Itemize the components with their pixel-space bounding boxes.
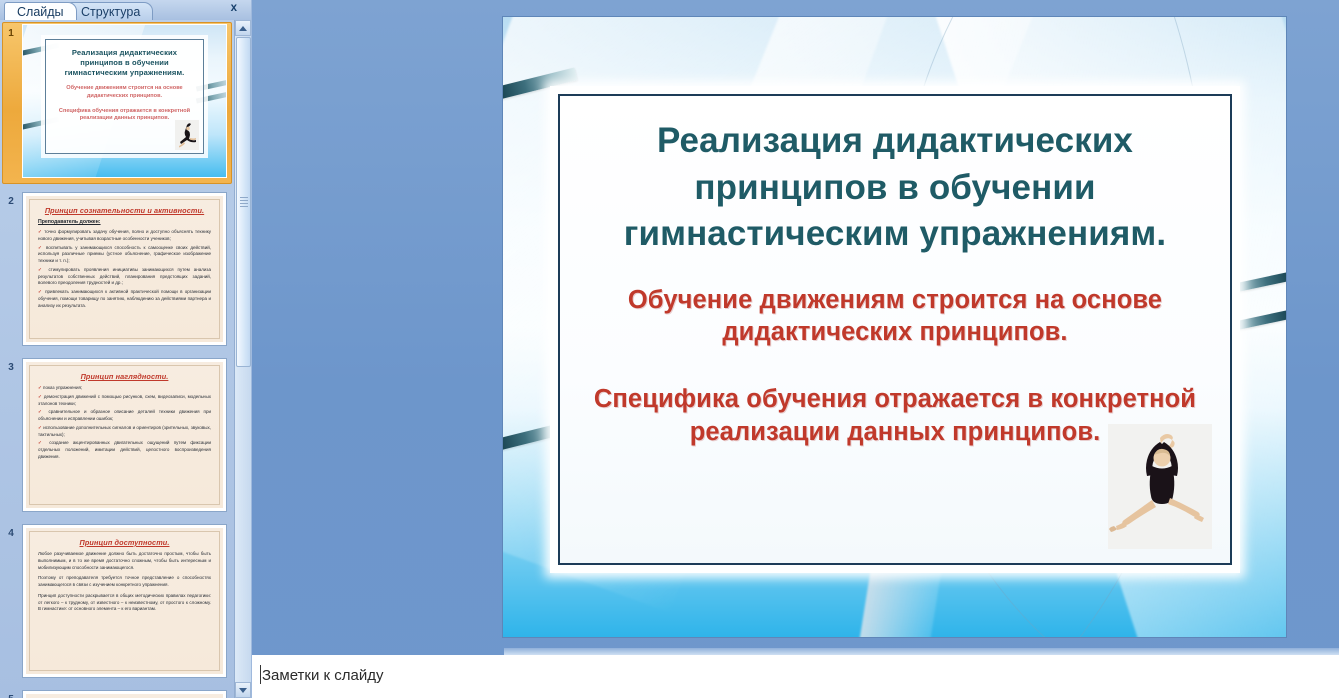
mini-slide-2-heading: Принцип сознательности и активности.: [38, 206, 211, 215]
close-panel-button[interactable]: x: [231, 2, 237, 14]
list-item-text: воспитывать у занимающихся способность к…: [38, 245, 211, 264]
check-icon: ✓: [38, 229, 42, 234]
mini-slide-4-para2: Поэтому от преподавателя требуется точно…: [38, 575, 211, 589]
notes-splitter[interactable]: [504, 648, 1339, 655]
list-item: ✓ демонстрация движений с помощью рисунк…: [38, 394, 211, 408]
mini-slide-4-para3: Принцип доступности раскрывается в общих…: [38, 593, 211, 613]
slide-thumbnail-3-canvas: Принцип наглядности. ✓ показ упражнения;…: [22, 358, 227, 512]
current-slide[interactable]: Реализация дидактических принципов в обу…: [503, 17, 1286, 637]
notes-placeholder[interactable]: Заметки к слайду: [262, 667, 384, 684]
slide-thumbnail-5[interactable]: 5: [0, 690, 234, 698]
check-icon: ✓: [38, 289, 43, 294]
check-icon: ✓: [38, 440, 45, 445]
list-item: ✓ показ упражнения;: [38, 385, 211, 392]
tab-slides-label: Слайды: [17, 5, 64, 19]
mini-slide-2-frame: Принцип сознательности и активности. Пре…: [29, 199, 220, 339]
list-item: ✓ привлекать занимающихся к активной пра…: [38, 289, 211, 309]
mini-slide-3-background: Принцип наглядности. ✓ показ упражнения;…: [23, 359, 226, 511]
list-item-text: точно формулировать задачу обучения, пол…: [38, 229, 211, 241]
slide-thumbnail-5-canvas: [22, 690, 227, 698]
slide-title[interactable]: Реализация дидактических принципов в обу…: [586, 118, 1204, 258]
check-icon: ✓: [38, 385, 42, 390]
list-item: ✓ сравнительное и образное описание дета…: [38, 409, 211, 423]
powerpoint-window: Слайды Структура x 1 Ре: [0, 0, 1339, 698]
mini-slide-4-frame: Принцип доступности. Любое разучиваемое …: [29, 531, 220, 671]
mini-slide-3-frame: Принцип наглядности. ✓ показ упражнения;…: [29, 365, 220, 505]
slides-panel: Слайды Структура x 1 Ре: [0, 0, 251, 698]
list-item: ✓ стимулировать проявления инициативы за…: [38, 267, 211, 287]
mini-slide-para1: Обучение движениям строится на основе ди…: [51, 85, 197, 100]
mini-slide-4-heading: Принцип доступности.: [38, 538, 211, 547]
slide-thumbnail-4-canvas: Принцип доступности. Любое разучиваемое …: [22, 524, 227, 678]
mini-gymnast-photo: [175, 120, 199, 150]
list-item: ✓ воспитывать у занимающихся способность…: [38, 245, 211, 265]
editing-workspace: Реализация дидактических принципов в обу…: [252, 0, 1339, 698]
mini-slide-3-heading: Принцип наглядности.: [38, 372, 211, 381]
mini-slide-4-background: Принцип доступности. Любое разучиваемое …: [23, 525, 226, 677]
slide-content-frame[interactable]: Реализация дидактических принципов в обу…: [550, 86, 1240, 573]
list-item-text: демонстрация движений с помощью рисунков…: [38, 394, 211, 406]
mini-slide-5-background: [23, 691, 226, 698]
check-icon: ✓: [38, 267, 45, 272]
list-item: ✓ точно формулировать задачу обучения, п…: [38, 229, 211, 243]
list-item-text: использование дополнительных сигналов и …: [38, 425, 211, 437]
panel-tab-strip: Слайды Структура x: [0, 0, 251, 20]
check-icon: ✓: [38, 245, 43, 250]
gymnast-photo[interactable]: [1108, 424, 1212, 549]
slide-paragraph-1[interactable]: Обучение движениям строится на основе ди…: [586, 284, 1204, 349]
text-caret: [260, 665, 261, 684]
chevron-down-icon: [239, 688, 247, 693]
slide-number-4: 4: [0, 524, 22, 539]
slide-number-2: 2: [0, 192, 22, 207]
scroll-up-button[interactable]: [235, 20, 251, 36]
list-item-text: стимулировать проявления инициативы зани…: [38, 267, 211, 286]
tab-outline-label: Структура: [81, 5, 140, 19]
check-icon: ✓: [38, 425, 42, 430]
slide-number-3: 3: [0, 358, 22, 373]
list-item: ✓ создание акцентированных двигательных …: [38, 440, 211, 460]
mini-slide-2-subheading: Преподаватель должен:: [38, 219, 211, 225]
slide-thumbnail-1-canvas: Реализация дидактических принципов в обу…: [22, 24, 227, 178]
slide-number-5: 5: [0, 690, 22, 698]
slide-thumbnail-2[interactable]: 2 Принцип сознательности и активности. П…: [0, 192, 234, 346]
mini-slide-3-list: ✓ показ упражнения; ✓ демонстрация движе…: [38, 385, 211, 461]
mini-slide-background: Реализация дидактических принципов в обу…: [23, 25, 226, 177]
slide-thumbnail-2-canvas: Принцип сознательности и активности. Пре…: [22, 192, 227, 346]
mini-slide-title: Реализация дидактических принципов в обу…: [51, 48, 197, 79]
list-item-text: показ упражнения;: [43, 385, 82, 390]
list-item-text: создание акцентированных двигательных ощ…: [38, 440, 211, 459]
slide-thumbnail-list[interactable]: 1 Реализация дидактических принципов в о…: [0, 20, 234, 698]
slide-thumbnail-1[interactable]: 1 Реализация дидактических принципов в о…: [0, 24, 234, 178]
scrollbar-thumb[interactable]: [236, 37, 251, 367]
list-item-text: привлекать занимающихся к активной практ…: [38, 289, 211, 308]
scroll-down-button[interactable]: [235, 682, 251, 698]
list-item-text: сравнительное и образное описание детале…: [38, 409, 211, 421]
scrollbar-grip-icon: [240, 197, 248, 207]
slide-number-1: 1: [0, 24, 22, 39]
slide-thumbnail-4[interactable]: 4 Принцип доступности. Любое разучиваемо…: [0, 524, 234, 678]
mini-slide-2-list: ✓ точно формулировать задачу обучения, п…: [38, 229, 211, 309]
notes-pane[interactable]: Заметки к слайду: [252, 655, 1339, 698]
chevron-up-icon: [239, 26, 247, 31]
gymnast-image: [1108, 424, 1212, 549]
list-item: ✓ использование дополнительных сигналов …: [38, 425, 211, 439]
slide-thumbnail-3[interactable]: 3 Принцип наглядности. ✓ показ упражнени…: [0, 358, 234, 512]
tab-outline[interactable]: Структура: [68, 2, 153, 20]
slide-content-box[interactable]: Реализация дидактических принципов в обу…: [558, 94, 1232, 565]
tab-slides[interactable]: Слайды: [4, 2, 77, 20]
mini-content-box: Реализация дидактических принципов в обу…: [45, 39, 203, 155]
check-icon: ✓: [38, 409, 45, 414]
mini-slide-2-background: Принцип сознательности и активности. Пре…: [23, 193, 226, 345]
mini-slide-4-para1: Любое разучиваемое движение должно быть …: [38, 551, 211, 571]
check-icon: ✓: [38, 394, 42, 399]
slides-panel-scrollbar[interactable]: [234, 20, 251, 698]
